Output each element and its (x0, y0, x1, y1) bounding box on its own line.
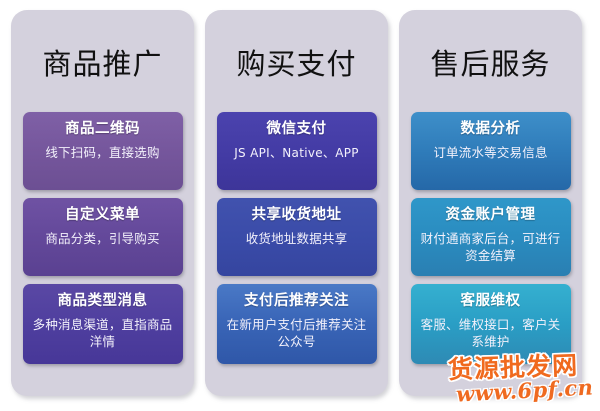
card-list-payment: 微信支付 JS API、Native、APP 共享收货地址 收货地址数据共享 支… (217, 112, 377, 364)
card-customer-service-rights[interactable]: 客服维权 客服、维权接口，客户关系维护 (411, 284, 571, 364)
card-description: 商品分类，引导购买 (29, 231, 177, 248)
feature-board: 商品推广 商品二维码 线下扫码，直接选购 自定义菜单 商品分类，引导购买 商品类… (0, 0, 600, 411)
card-title: 数据分析 (417, 120, 565, 138)
card-title: 商品二维码 (29, 120, 177, 138)
card-wechat-pay[interactable]: 微信支付 JS API、Native、APP (217, 112, 377, 190)
card-title: 资金账户管理 (417, 206, 565, 224)
card-description: JS API、Native、APP (223, 145, 371, 161)
panel-title-payment: 购买支付 (236, 50, 356, 79)
card-description: 线下扫码，直接选购 (29, 145, 177, 162)
card-description: 收货地址数据共享 (223, 231, 371, 248)
card-description: 多种消息渠道，直指商品洋情 (29, 317, 177, 351)
column-panel-after-sales: 售后服务 数据分析 订单流水等交易信息 资金账户管理 财付通商家后台，可进行资金… (399, 10, 582, 396)
card-list-after-sales: 数据分析 订单流水等交易信息 资金账户管理 财付通商家后台，可进行资金结算 客服… (411, 112, 571, 364)
card-title: 共享收货地址 (223, 206, 371, 224)
card-product-type-message[interactable]: 商品类型消息 多种消息渠道，直指商品洋情 (23, 284, 183, 364)
card-shared-shipping-address[interactable]: 共享收货地址 收货地址数据共享 (217, 198, 377, 276)
card-description: 财付通商家后台，可进行资金结算 (417, 231, 565, 265)
card-fund-account-management[interactable]: 资金账户管理 财付通商家后台，可进行资金结算 (411, 198, 571, 276)
column-panel-payment: 购买支付 微信支付 JS API、Native、APP 共享收货地址 收货地址数… (205, 10, 388, 396)
panel-title-promotion: 商品推广 (42, 50, 162, 79)
card-product-qr-code[interactable]: 商品二维码 线下扫码，直接选购 (23, 112, 183, 190)
card-description: 客服、维权接口，客户关系维护 (417, 317, 565, 351)
card-data-analysis[interactable]: 数据分析 订单流水等交易信息 (411, 112, 571, 190)
card-custom-menu[interactable]: 自定义菜单 商品分类，引导购买 (23, 198, 183, 276)
column-panel-promotion: 商品推广 商品二维码 线下扫码，直接选购 自定义菜单 商品分类，引导购买 商品类… (11, 10, 194, 396)
card-title: 客服维权 (417, 292, 565, 310)
card-description: 在新用户支付后推荐关注公众号 (223, 317, 371, 351)
card-description: 订单流水等交易信息 (417, 145, 565, 162)
card-title: 自定义菜单 (29, 206, 177, 224)
card-title: 微信支付 (223, 120, 371, 138)
card-list-promotion: 商品二维码 线下扫码，直接选购 自定义菜单 商品分类，引导购买 商品类型消息 多… (23, 112, 183, 364)
card-title: 商品类型消息 (29, 292, 177, 310)
card-post-payment-follow[interactable]: 支付后推荐关注 在新用户支付后推荐关注公众号 (217, 284, 377, 364)
card-title: 支付后推荐关注 (223, 292, 371, 310)
panel-title-after-sales: 售后服务 (430, 50, 550, 79)
